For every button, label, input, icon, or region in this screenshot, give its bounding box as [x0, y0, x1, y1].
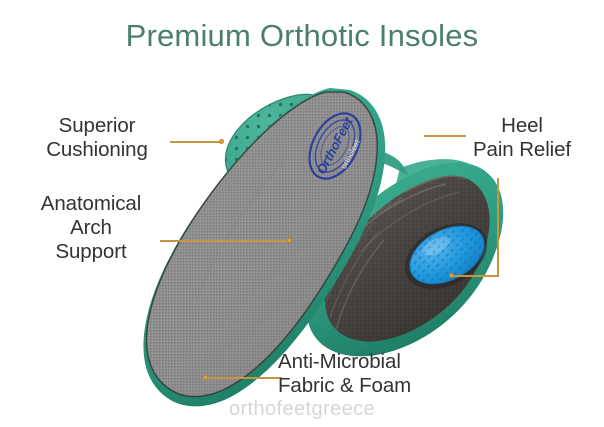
leader-line-anti-microbial — [206, 377, 282, 379]
callout-label-superior-cushioning: Superior Cushioning — [8, 114, 186, 162]
callout-label-heel-pain-relief: Heel Pain Relief — [440, 114, 604, 162]
leader-line-heel-pain-relief-vertical — [497, 178, 499, 276]
infographic-canvas: OrthoFeet — [0, 0, 604, 427]
leader-dot-anti-microbial — [203, 375, 208, 380]
leader-line-heel-pain-relief-bottom — [452, 275, 499, 277]
page-title: Premium Orthotic Insoles — [0, 18, 604, 54]
leader-dot-heel-pain-relief — [449, 273, 454, 278]
leader-dot-superior-cushioning — [219, 139, 224, 144]
callout-label-anti-microbial-fabric-foam: Anti-Microbial Fabric & Foam — [278, 350, 508, 398]
callout-label-anatomical-arch-support: Anatomical Arch Support — [2, 192, 180, 265]
watermark: orthofeetgreece — [0, 398, 604, 421]
leader-dot-arch-support — [287, 238, 292, 243]
